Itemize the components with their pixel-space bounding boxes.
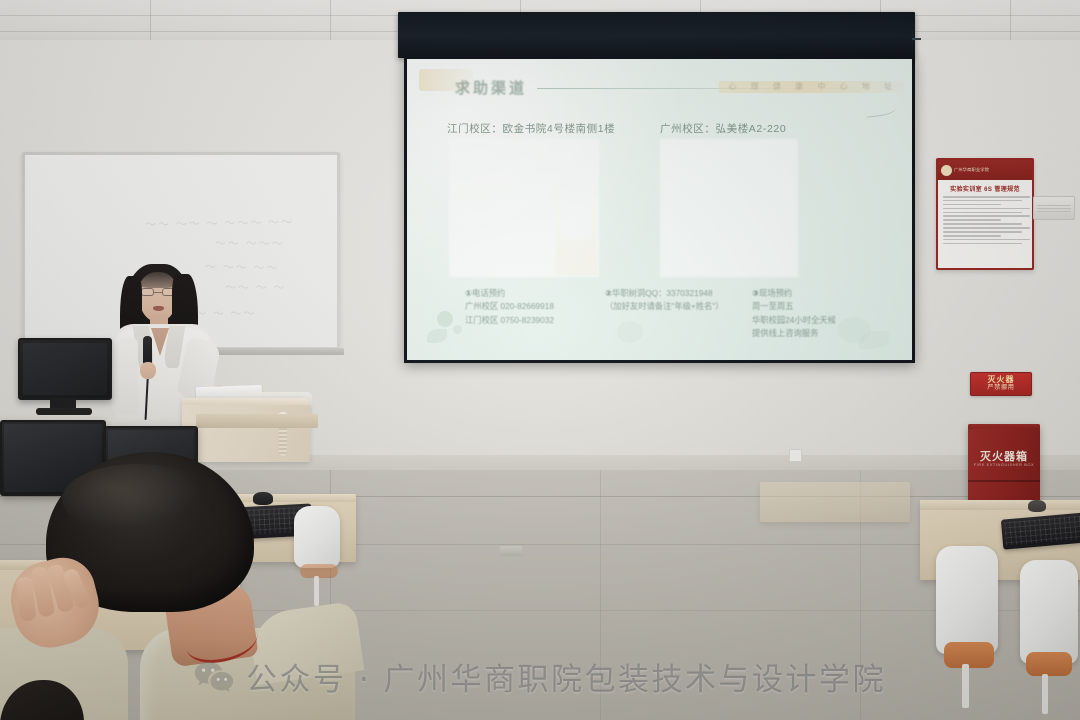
projector-screen-casing	[398, 12, 915, 58]
contact-line-1-2: 江门校区 0750-8239032	[465, 314, 554, 327]
notice-board-title: 实验实训室 6S 管理规范	[938, 184, 1032, 193]
contact-line-2-1: （加好友时请备注"年级+姓名"）	[605, 300, 724, 313]
presenter-arm-left	[112, 338, 138, 414]
floor-cable-plate	[500, 546, 522, 556]
notice-board-header: 广州华商职业学院	[938, 160, 1032, 180]
slide-heading-guangzhou: 广州校区：弘美楼A2-220	[660, 121, 786, 136]
student-desk-far-right	[760, 482, 910, 522]
slide-title: 求助渠道	[455, 77, 527, 98]
contact-num-3: ③	[752, 288, 759, 298]
slide-contact-block-1: ①电话预约 广州校区 020-82669918 江门校区 0750-823903…	[465, 287, 554, 327]
chair[interactable]	[936, 546, 1006, 706]
classroom-photo: ～～ ～～ ～ ～～～ ～～ ～～ ～～～ ～ ～～ ～～ ～～ ～ ～ ～ ～…	[0, 0, 1080, 720]
teacher-monitor-base	[36, 408, 92, 415]
slide-decor-dot	[617, 321, 643, 343]
presenter-hand-left	[140, 362, 156, 379]
slide-decor-leaf	[427, 329, 447, 343]
contact-title-2: 华职树洞QQ：3370321948	[612, 288, 713, 298]
fire-extinguisher-sign: 灭火器 严禁挪用	[970, 372, 1032, 396]
slide-decor-leaf	[859, 331, 889, 349]
projection-screen: 求助渠道 心 理 健 康 中 心 地 址 江门校区：欧金书院4号楼南侧1楼 广州…	[404, 56, 915, 363]
fire-sign-line2: 严禁挪用	[987, 385, 1014, 392]
contact-title-3: 现场预约	[759, 288, 792, 298]
contact-line-1-1: 广州校区 020-82669918	[465, 300, 554, 313]
teacher-monitor	[18, 338, 112, 400]
fire-box-label-en: FIRE EXTINGUISHER BOX	[968, 462, 1040, 467]
notice-board-org: 广州华商职业学院	[954, 168, 989, 172]
contact-num-2: ②	[605, 288, 612, 298]
notice-board: 广州华商职业学院 实验实训室 6S 管理规范	[936, 158, 1034, 270]
contact-line-3-1: 周一至周五	[752, 300, 836, 313]
slide-photo-jiangmen	[449, 139, 599, 277]
slide-heading-jiangmen: 江门校区：欧金书院4号楼南侧1楼	[447, 121, 615, 136]
school-emblem-icon	[941, 165, 952, 176]
contact-line-3-3: 提供线上咨询服务	[752, 327, 836, 340]
chair[interactable]	[1020, 560, 1080, 710]
wall-power-socket[interactable]	[789, 449, 802, 462]
slide-contact-block-2: ②华职树洞QQ：3370321948 （加好友时请备注"年级+姓名"）	[605, 287, 724, 314]
teacher-desk-edge	[196, 414, 318, 428]
slide-topright-text: 心 理 健 康 中 心 地 址	[728, 81, 898, 92]
slide-signature-mark	[866, 104, 897, 118]
student-shoulder	[248, 601, 365, 685]
contact-title-1: 电话预约	[472, 288, 505, 298]
mouse[interactable]	[1028, 500, 1046, 512]
contact-line-3-2: 华职校园24小时全天候	[752, 314, 836, 327]
slide-contact-block-3: ③现场预约 周一至周五 华职校园24小时全天候 提供线上咨询服务	[752, 287, 836, 341]
wall-air-vent	[1033, 196, 1075, 220]
slide-decor-dot	[437, 311, 453, 327]
foreground-student	[0, 452, 350, 720]
student-desk-right-edge	[920, 500, 1080, 510]
slide-decor-dot	[453, 325, 462, 334]
slide-content: 求助渠道 心 理 健 康 中 心 地 址 江门校区：欧金书院4号楼南侧1楼 广州…	[407, 59, 912, 360]
glasses-icon	[141, 288, 175, 296]
slide-photo-guangzhou	[660, 139, 798, 277]
presenter-mouth	[153, 306, 164, 311]
contact-num-1: ①	[465, 288, 472, 298]
